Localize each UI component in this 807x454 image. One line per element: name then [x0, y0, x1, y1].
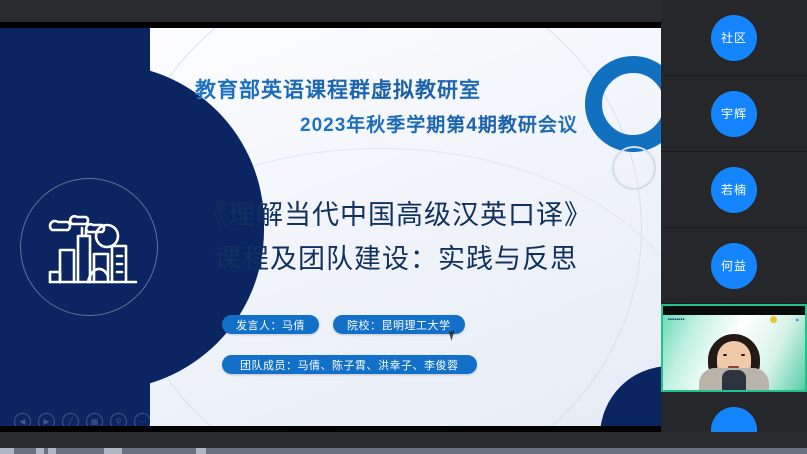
avatar: 何益 — [711, 243, 757, 289]
play-icon[interactable]: ▶ — [38, 413, 55, 426]
slide-title-line2: 课程及团队建设：实践与反思 — [186, 237, 606, 281]
brand-logo-icon: ◉ — [796, 317, 800, 322]
participant-tile[interactable]: 社区 — [661, 0, 807, 76]
slide-title: 《理解当代中国高级汉英口译》 课程及团队建设：实践与反思 — [186, 193, 606, 281]
participant-rail[interactable]: 社区 宇辉 若楠 何益 ■■■■■■■■ ◉ — [661, 0, 807, 454]
participant-person — [697, 332, 771, 390]
video-letterbox — [663, 306, 805, 315]
participant-tile[interactable]: 宇辉 — [661, 76, 807, 152]
decorative-circle-outline — [612, 146, 656, 190]
slide-grid-icon[interactable]: ▦ — [86, 413, 103, 426]
speaker-badge: 发言人：马倩 — [222, 315, 319, 334]
zoom-icon[interactable]: ⚲ — [110, 413, 127, 426]
slide-header-line1: 教育部英语课程群虚拟教研室 — [195, 74, 615, 104]
avatar: 社区 — [711, 15, 757, 61]
virtual-background-text: ■■■■■■■■ — [668, 317, 685, 321]
presentation-toolbar[interactable]: ◀ ▶ ╱ ▦ ⚲ ⋯ — [14, 413, 151, 426]
presentation-slide[interactable]: 教育部英语课程群虚拟教研室 2023年秋季学期第4期教研会议 《理解当代中国高级… — [0, 28, 661, 426]
participant-tile[interactable]: 何益 — [661, 228, 807, 304]
city-skyline-icon — [46, 210, 140, 290]
taskbar-strip[interactable] — [0, 448, 807, 454]
team-members-badge: 团队成员：马倩、陈子霄、洪幸子、李俊蓉 — [222, 355, 477, 374]
university-crest-icon — [770, 316, 777, 323]
pen-icon[interactable]: ╱ — [62, 413, 79, 426]
slide-header-line2: 2023年秋季学期第4期教研会议 — [300, 110, 660, 137]
video-conference-window: 教育部英语课程群虚拟教研室 2023年秋季学期第4期教研会议 《理解当代中国高级… — [0, 0, 807, 454]
school-badge: 院校：昆明理工大学 — [333, 315, 465, 334]
slide-title-line1: 《理解当代中国高级汉英口译》 — [186, 193, 606, 237]
shared-screen-area[interactable]: 教育部英语课程群虚拟教研室 2023年秋季学期第4期教研会议 《理解当代中国高级… — [0, 22, 661, 432]
more-options-icon[interactable]: ⋯ — [134, 413, 151, 426]
video-feed: ■■■■■■■■ ◉ — [663, 306, 805, 390]
participant-tile[interactable]: 若楠 — [661, 152, 807, 228]
previous-slide-icon[interactable]: ◀ — [14, 413, 31, 426]
active-speaker-video-tile[interactable]: ■■■■■■■■ ◉ — [661, 304, 807, 392]
avatar: 宇辉 — [711, 91, 757, 137]
avatar: 若楠 — [711, 167, 757, 213]
